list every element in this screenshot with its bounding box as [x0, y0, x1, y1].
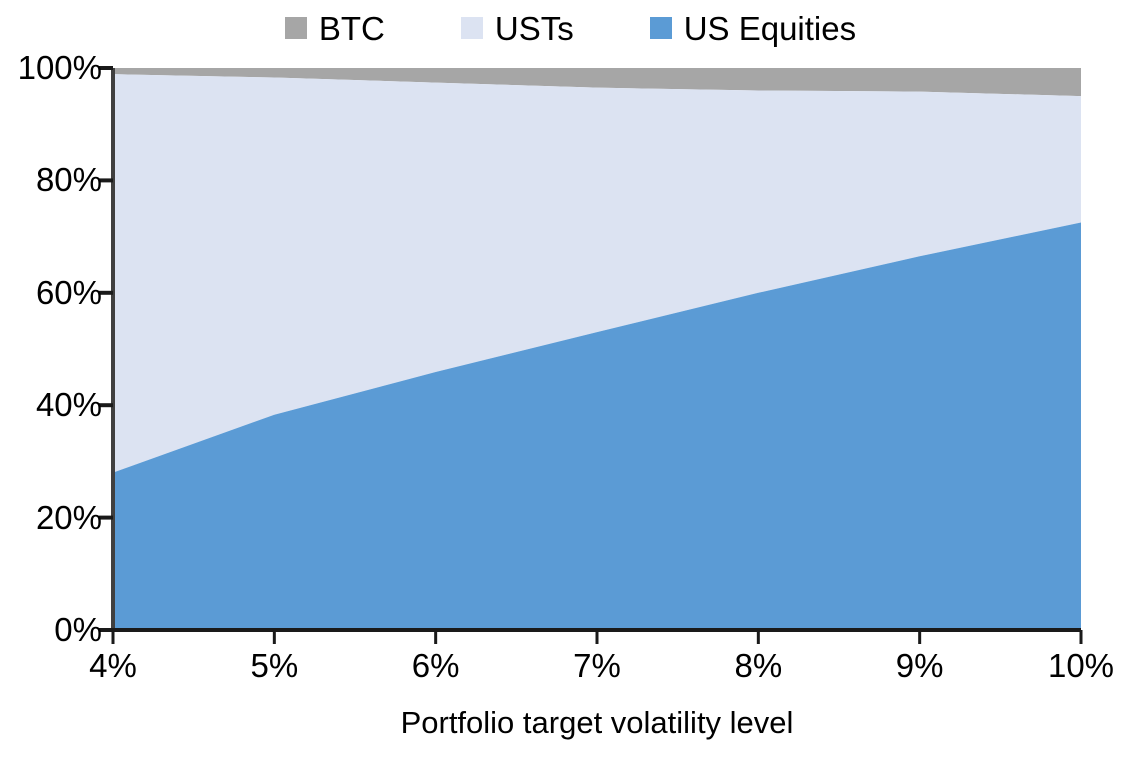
x-axis-tick-label: 6%	[412, 647, 460, 685]
y-axis-tick-label: 20%	[2, 501, 102, 534]
x-axis-ticks	[113, 630, 1081, 644]
x-axis-tick-label: 5%	[250, 647, 298, 685]
y-axis-tick-label: 80%	[2, 163, 102, 196]
stacked-area-chart: BTC USTs US Equities 100%80%60%40	[0, 0, 1141, 763]
y-axis-tick-label: 60%	[2, 276, 102, 309]
y-axis-tick-label: 40%	[2, 388, 102, 421]
x-axis-tick-label: 9%	[896, 647, 944, 685]
x-axis-tick-label: 10%	[1048, 647, 1114, 685]
y-axis-tick-label: 100%	[2, 51, 102, 84]
x-axis-tick-label: 7%	[573, 647, 621, 685]
x-axis-title: Portfolio target volatility level	[113, 705, 1081, 741]
y-axis-tick-label: 0%	[2, 613, 102, 646]
x-axis-tick-labels: 4%5%6%7%8%9%10%	[0, 647, 1141, 695]
x-axis-tick-label: 8%	[734, 647, 782, 685]
x-axis-tick-label: 4%	[89, 647, 137, 685]
series-layer	[113, 68, 1081, 630]
plot-area: 100%80%60%40%20%0% 4%5%6%7%8%9%10% Portf…	[0, 0, 1141, 763]
